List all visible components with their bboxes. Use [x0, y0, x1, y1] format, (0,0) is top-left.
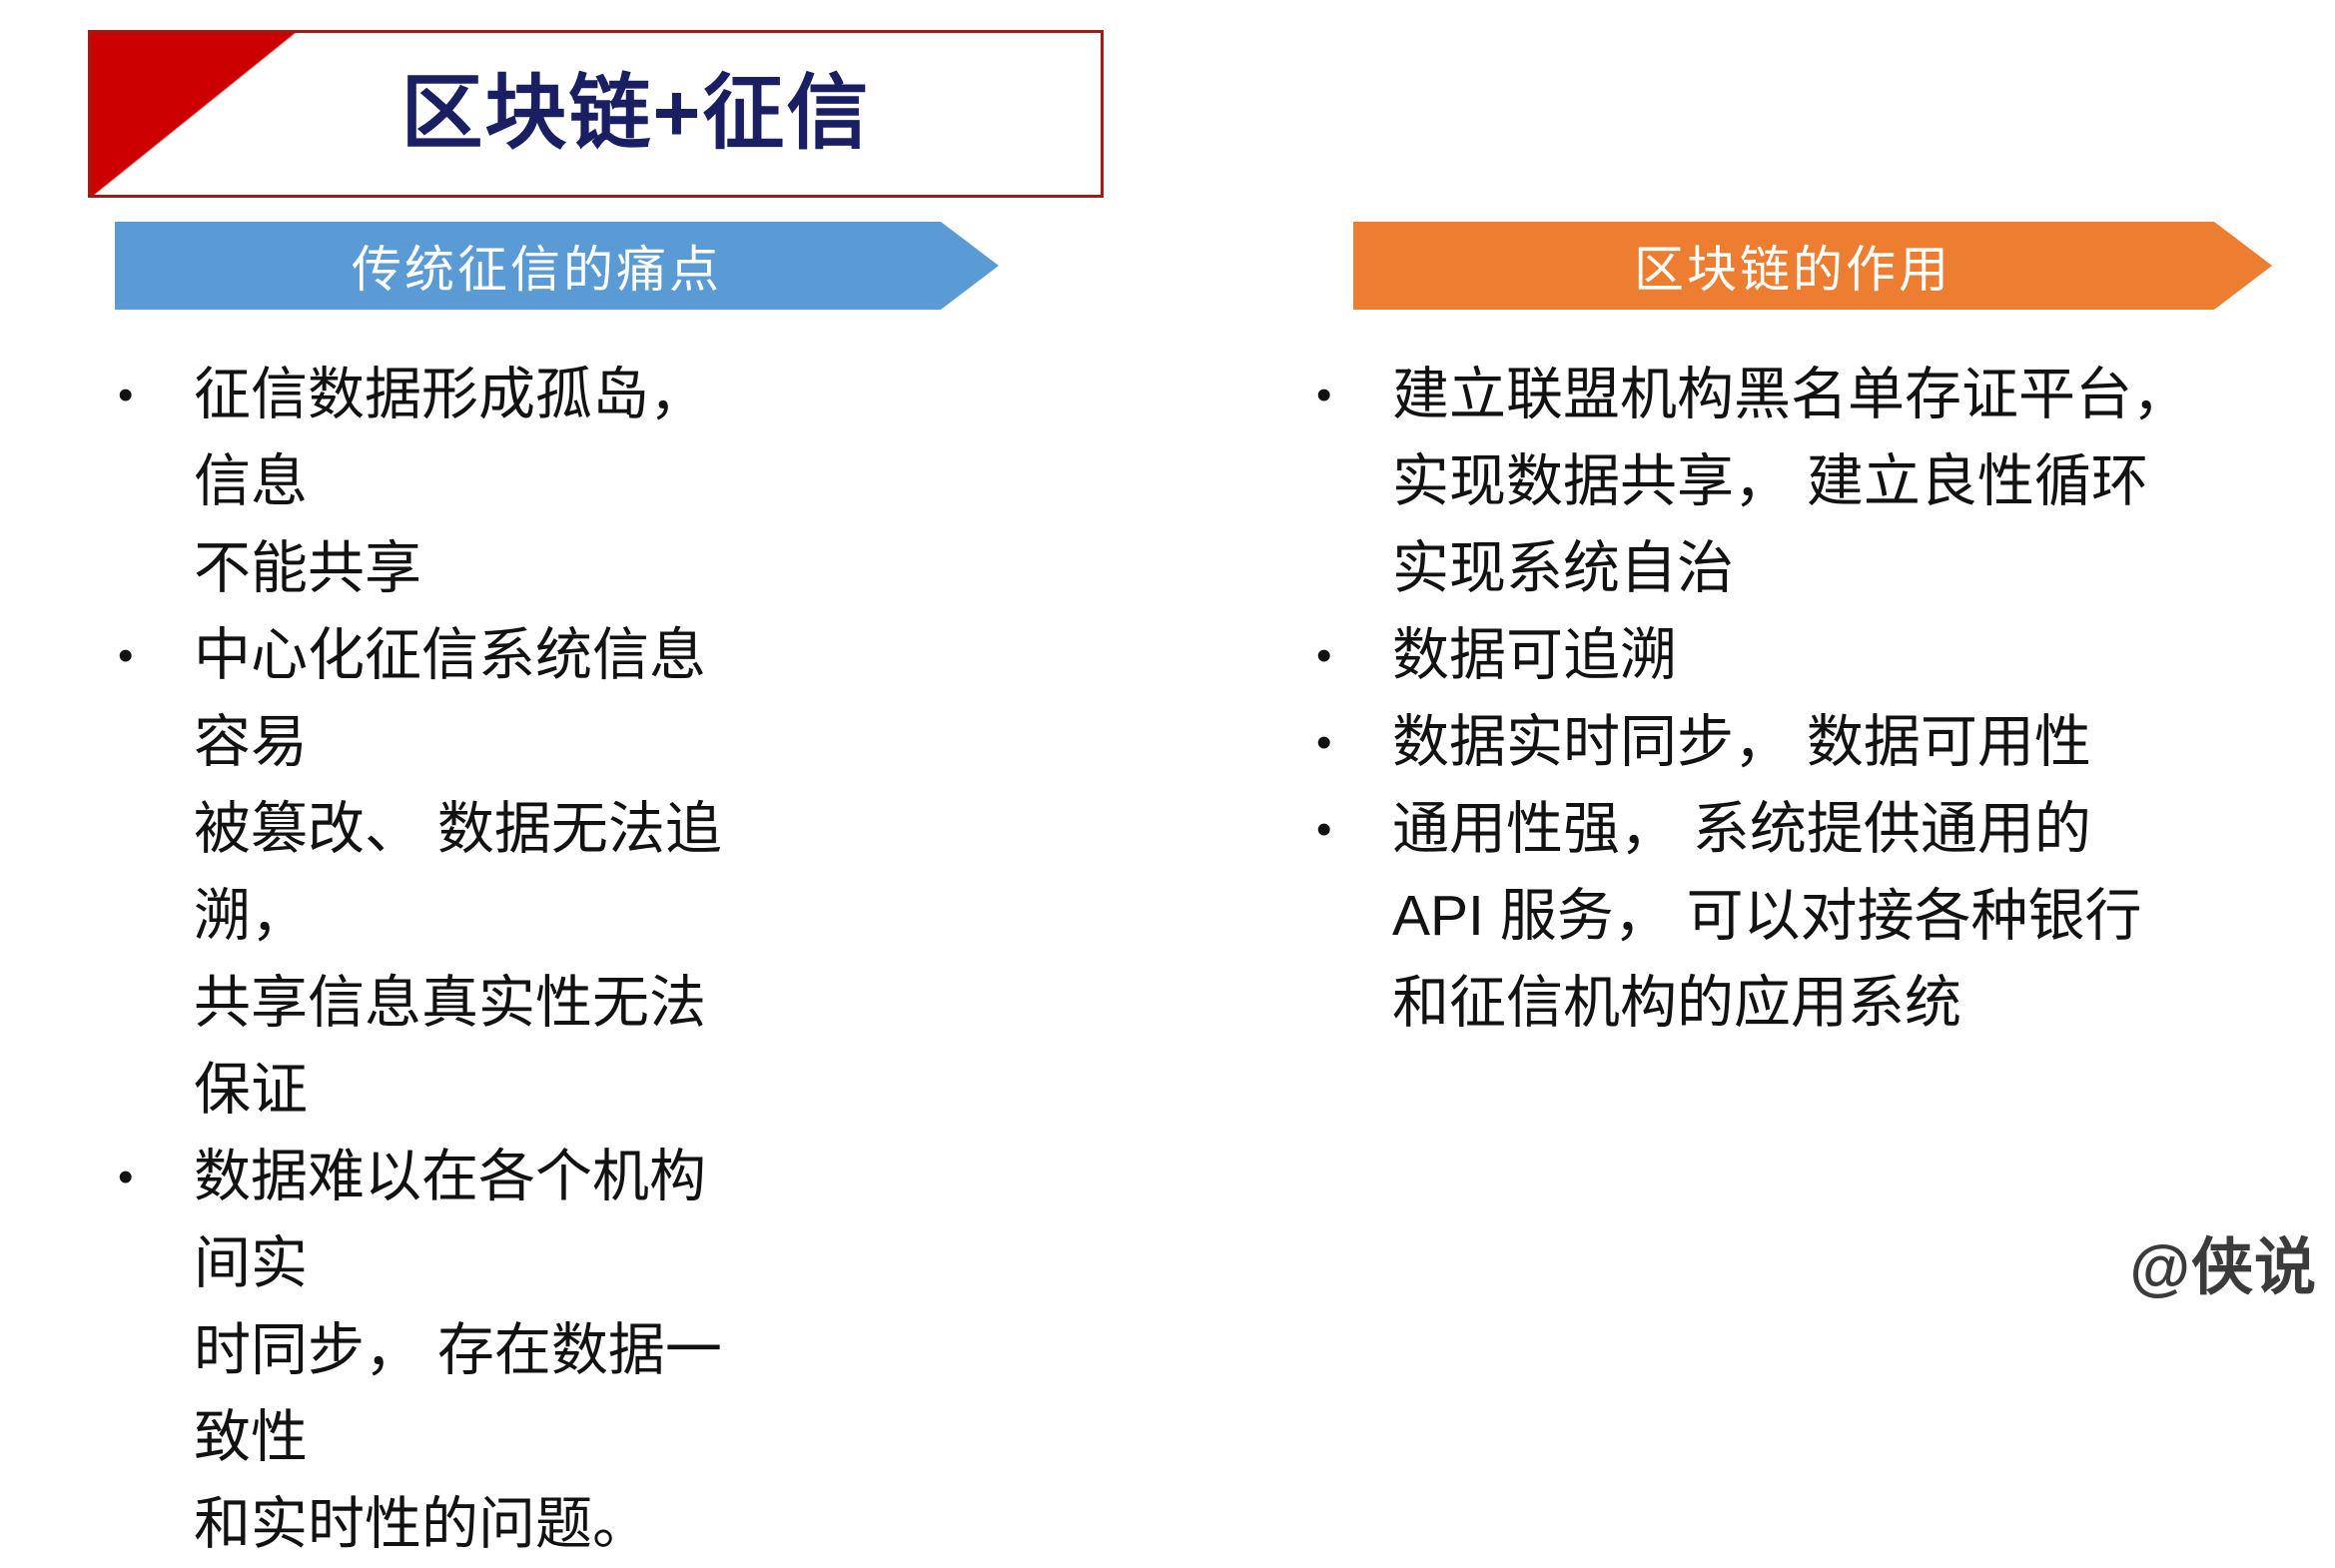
page-title: 区块链+征信 — [91, 33, 1101, 195]
list-item-text: 建立联盟机构黑名单存证平台， 实现数据共享， 建立良性循环 实现系统自治 — [1392, 352, 2325, 612]
slide-title-box: 区块链+征信 — [88, 30, 1104, 198]
bullet-point-icon: • — [118, 1134, 194, 1220]
bullet-point-icon: • — [118, 612, 194, 699]
bullet-column-right: • 建立联盟机构黑名单存证平台， 实现数据共享， 建立良性循环 实现系统自治 •… — [1316, 352, 2325, 1047]
bullet-point-icon: • — [1316, 352, 1392, 438]
list-item-text: 数据难以在各个机构间实 时同步， 存在数据一致性 和实时性的问题。 — [194, 1134, 757, 1568]
watermark-label: @侠说 — [2130, 1216, 2317, 1306]
slide-canvas: 区块链+征信 传统征信的痛点 区块链的作用 • 征信数据形成孤岛， 信息 不能共… — [0, 0, 2335, 1314]
bullet-point-icon: • — [118, 352, 194, 438]
list-item-text: 数据可追溯 — [1392, 612, 2325, 699]
list-item: • 中心化征信系统信息容易 被篡改、 数据无法追溯， 共享信息真实性无法保证 — [118, 612, 757, 1134]
section-header-label-right: 区块链的作用 — [1634, 230, 1951, 302]
list-item: • 数据难以在各个机构间实 时同步， 存在数据一致性 和实时性的问题。 — [118, 1134, 757, 1568]
list-item: • 数据可追溯 — [1316, 612, 2325, 699]
bullet-point-icon: • — [1316, 786, 1392, 873]
list-item-text: 征信数据形成孤岛， 信息 不能共享 — [194, 352, 757, 612]
list-item-text: 数据实时同步， 数据可用性 — [1392, 699, 2325, 786]
list-item-text: 中心化征信系统信息容易 被篡改、 数据无法追溯， 共享信息真实性无法保证 — [194, 612, 757, 1134]
list-item: • 数据实时同步， 数据可用性 — [1316, 699, 2325, 786]
list-item: • 征信数据形成孤岛， 信息 不能共享 — [118, 352, 757, 612]
bullet-column-left: • 征信数据形成孤岛， 信息 不能共享 • 中心化征信系统信息容易 被篡改、 数… — [118, 352, 757, 1568]
bullet-point-icon: • — [1316, 699, 1392, 786]
list-item-text: 通用性强， 系统提供通用的 API 服务， 可以对接各种银行 和征信机构的应用系… — [1392, 786, 2325, 1047]
section-header-blockchain-role: 区块链的作用 — [1353, 222, 2272, 310]
list-item: • 建立联盟机构黑名单存证平台， 实现数据共享， 建立良性循环 实现系统自治 — [1316, 352, 2325, 612]
bullet-point-icon: • — [1316, 612, 1392, 699]
list-item: • 通用性强， 系统提供通用的 API 服务， 可以对接各种银行 和征信机构的应… — [1316, 786, 2325, 1047]
section-header-traditional-credit-painpoints: 传统征信的痛点 — [115, 222, 999, 310]
section-header-label-left: 传统征信的痛点 — [352, 230, 722, 302]
